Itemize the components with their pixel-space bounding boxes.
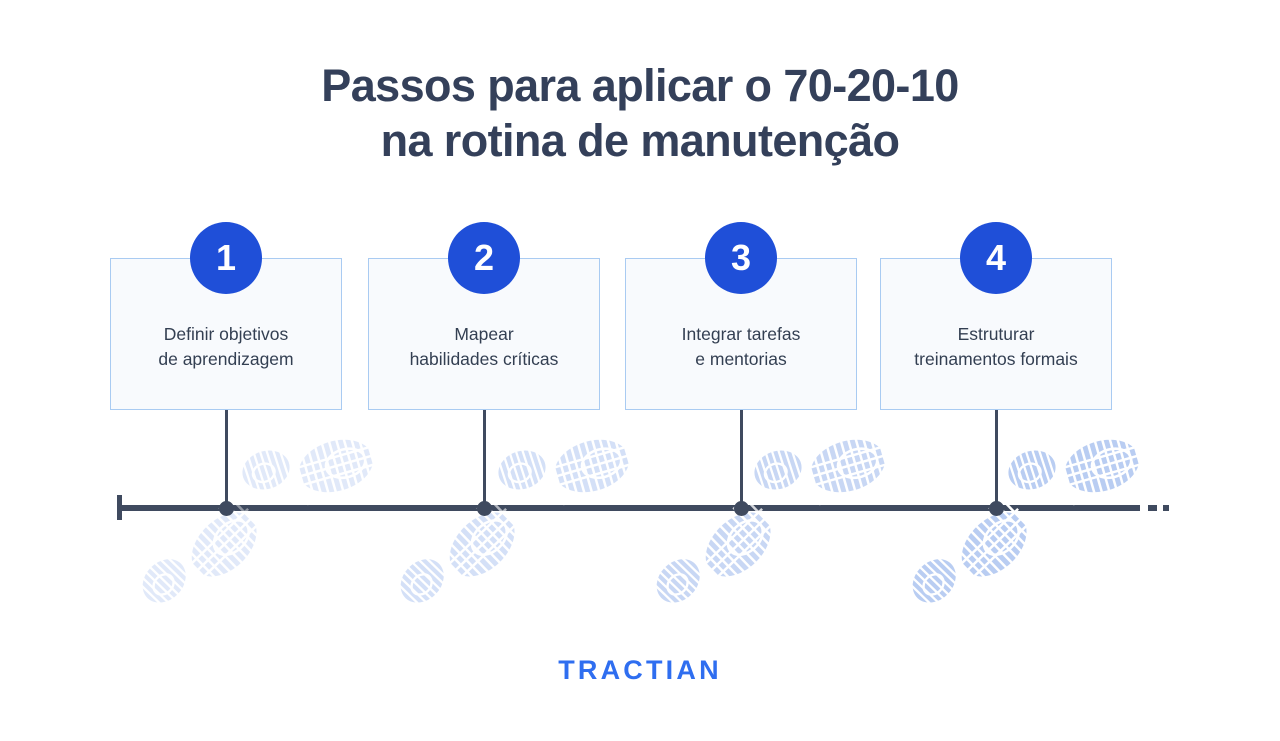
step-badge-1: 1 <box>190 222 262 294</box>
footprint-pair-above-2 <box>492 428 642 508</box>
footprints-layer <box>0 0 1280 741</box>
timeline-marker-3 <box>734 501 749 516</box>
step-badge-3: 3 <box>705 222 777 294</box>
timeline-marker-2 <box>477 501 492 516</box>
infographic-canvas: Passos para aplicar o 70-20-10 na rotina… <box>0 0 1280 741</box>
footprint-pair-below-4 <box>888 487 1058 628</box>
footprint-pair-below-2 <box>376 487 546 628</box>
timeline-marker-4 <box>989 501 1004 516</box>
footprint-pair-above-3 <box>748 428 898 508</box>
footprint-pair-below-1 <box>118 487 288 628</box>
footprint-pair-above-1 <box>236 428 386 508</box>
timeline-marker-1 <box>219 501 234 516</box>
footprint-pair-below-3 <box>632 487 802 628</box>
step-badge-2: 2 <box>448 222 520 294</box>
step-badge-4: 4 <box>960 222 1032 294</box>
